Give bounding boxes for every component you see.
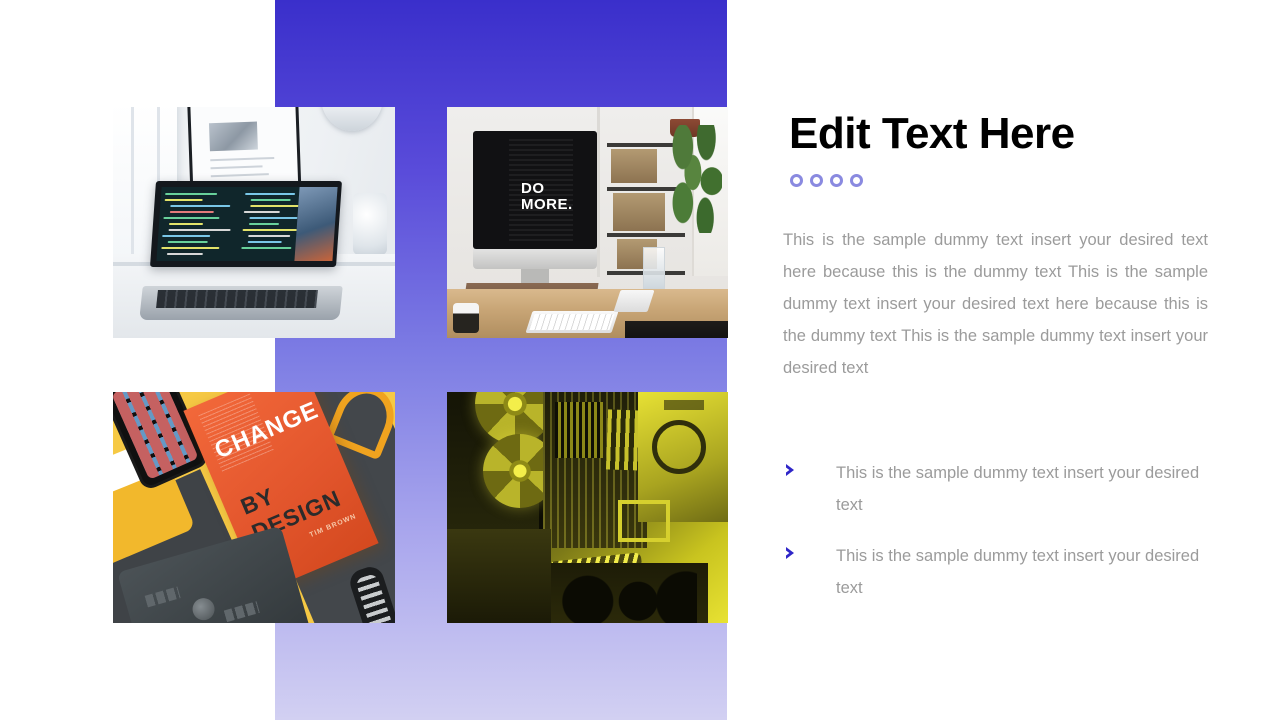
- list-item-label: This is the sample dummy text insert you…: [805, 457, 1203, 521]
- bullet-list: This is the sample dummy text insert you…: [783, 457, 1203, 623]
- tablet-buttons: [145, 587, 181, 608]
- case-floor: [447, 529, 551, 623]
- psu-fan-grill: [652, 420, 706, 474]
- photo-pc-internals-duotone: [447, 392, 728, 623]
- psu-label: [664, 400, 704, 410]
- monitor-image: [209, 122, 258, 152]
- monitor-text-line: [211, 165, 263, 169]
- text-content-column: Edit Text Here This is the sample dummy …: [783, 0, 1223, 720]
- body-paragraph: This is the sample dummy text insert you…: [783, 224, 1208, 384]
- cpu-heatsink: [555, 402, 603, 458]
- under-desk-shadow: [625, 321, 728, 338]
- list-item: This is the sample dummy text insert you…: [783, 457, 1203, 521]
- photo-pc-internals-duotone-content: [447, 392, 728, 623]
- laptop-screen: [150, 181, 342, 267]
- photo-laptop-code-workspace-content: [113, 107, 395, 338]
- shelf-box: [611, 149, 657, 183]
- list-item: This is the sample dummy text insert you…: [783, 540, 1203, 604]
- page-title: Edit Text Here: [789, 108, 1075, 160]
- keyboard: [525, 311, 618, 333]
- imac-screen: DO MORE.: [473, 131, 597, 249]
- imac-stand: [521, 269, 549, 283]
- slide-canvas: DO MORE.: [0, 0, 1280, 720]
- hanging-plant: [666, 125, 722, 233]
- imac-chin: [473, 249, 597, 269]
- photo-laptop-code-workspace: [113, 107, 395, 338]
- photo-imac-do-more-desk: DO MORE.: [447, 107, 728, 338]
- photo-imac-do-more-desk-content: DO MORE.: [447, 107, 728, 338]
- desktop-wallpaper: [294, 187, 337, 261]
- chevron-right-icon: [783, 545, 805, 561]
- photo-change-by-design-flatlay: CHANGE BY DESIGN TIM BROWN: [113, 392, 395, 623]
- ram-modules: [606, 409, 642, 470]
- decorator-dot-icon: [790, 174, 803, 187]
- decorative-vase: [353, 193, 387, 255]
- imac-screen-text-line1: DO: [521, 181, 573, 197]
- decorator-dot-icon: [830, 174, 843, 187]
- gpu-fans: [557, 571, 697, 623]
- trackpad: [613, 290, 654, 312]
- drive-bay: [618, 500, 670, 542]
- decorator-dot-icon: [810, 174, 823, 187]
- water-glass: [643, 247, 665, 289]
- wall-seam: [597, 107, 600, 277]
- laptop-keyboard: [156, 290, 318, 308]
- imac-screen-text-line2: MORE.: [521, 197, 573, 213]
- chevron-right-icon: [783, 462, 805, 478]
- decorator-dot-icon: [850, 174, 863, 187]
- tablet-dial: [190, 596, 217, 623]
- monitor-text-line: [210, 157, 274, 161]
- decorator-dots: [790, 174, 863, 187]
- shelf-box: [613, 193, 665, 231]
- list-item-label: This is the sample dummy text insert you…: [805, 540, 1203, 604]
- monitor-text-line: [211, 173, 269, 177]
- imac-screen-text: DO MORE.: [521, 181, 573, 213]
- code-editor-area: [156, 187, 299, 261]
- desk-jar: [453, 303, 479, 333]
- photo-change-by-design-flatlay-content: CHANGE BY DESIGN TIM BROWN: [113, 392, 395, 623]
- tablet-buttons: [224, 601, 260, 622]
